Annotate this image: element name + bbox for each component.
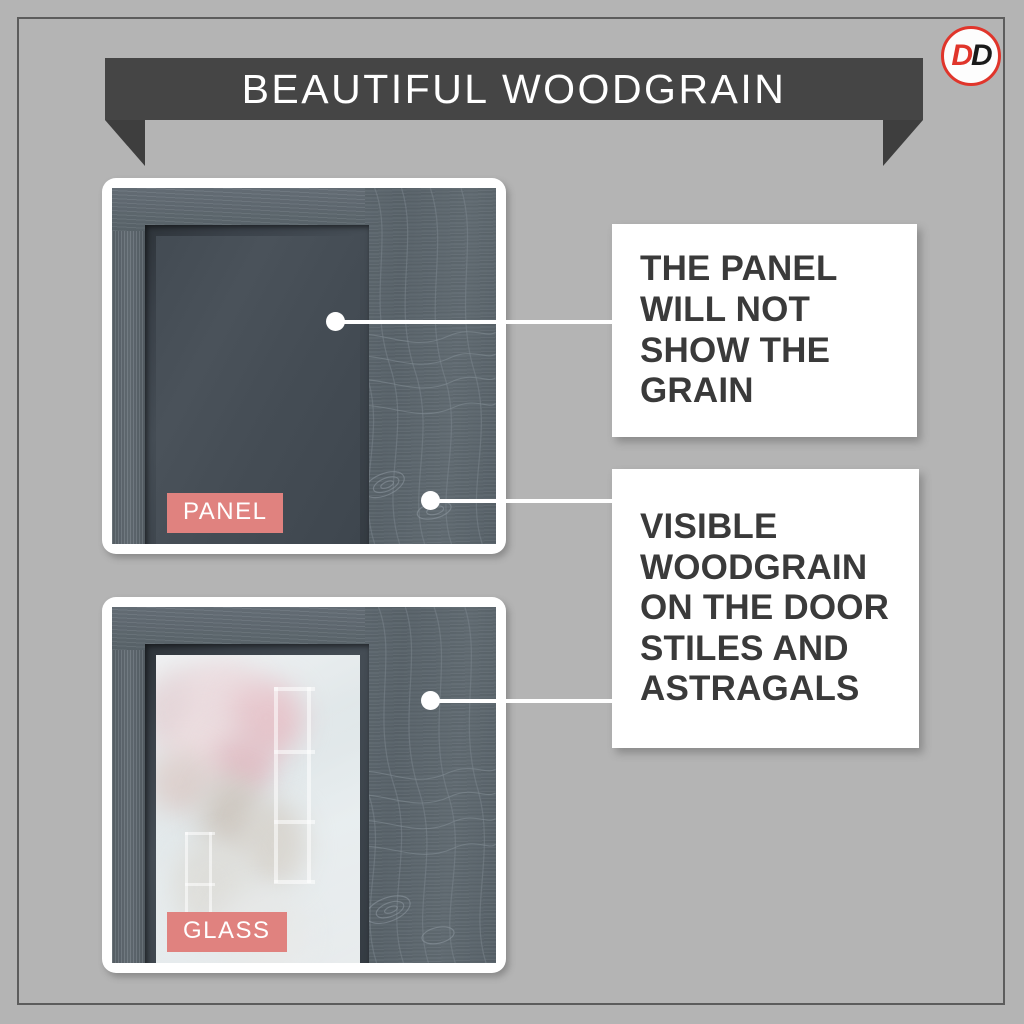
door-illustration-glass xyxy=(112,607,496,963)
connector-dot-panel xyxy=(326,312,345,331)
photo-card-glass: GLASS xyxy=(102,597,506,973)
door-top-rail xyxy=(112,607,365,650)
connector-dot-stile-lower xyxy=(421,691,440,710)
banner-tail-right xyxy=(883,120,923,166)
callout-panel-text: THE PANEL WILL NOT SHOW THE GRAIN xyxy=(640,249,917,411)
title-banner: BEAUTIFUL WOODGRAIN xyxy=(105,58,923,163)
callout-stiles-text: VISIBLE WOODGRAIN ON THE DOOR STILES AND… xyxy=(640,507,919,710)
photo-card-panel: PANEL xyxy=(102,178,506,554)
logo-letter-first: D xyxy=(951,41,971,71)
infographic-canvas: DD BEAUTIFUL WOODGRAIN xyxy=(0,0,1024,1024)
badge-panel: PANEL xyxy=(167,493,283,533)
connector-dot-stile-upper xyxy=(421,491,440,510)
badge-glass: GLASS xyxy=(167,912,287,952)
banner-bar: BEAUTIFUL WOODGRAIN xyxy=(105,58,923,120)
connector-line-panel xyxy=(335,320,620,324)
door-photo-glass: GLASS xyxy=(112,607,496,963)
logo-letter-second: D xyxy=(971,41,991,71)
connector-line-stile-lower xyxy=(430,699,620,703)
page-title: BEAUTIFUL WOODGRAIN xyxy=(242,66,787,113)
callout-panel: THE PANEL WILL NOT SHOW THE GRAIN xyxy=(612,224,917,437)
banner-tail-left xyxy=(105,120,145,166)
door-photo-panel: PANEL xyxy=(112,188,496,544)
brand-logo: DD xyxy=(941,26,1001,86)
door-top-rail xyxy=(112,188,365,231)
callout-stiles: VISIBLE WOODGRAIN ON THE DOOR STILES AND… xyxy=(612,469,919,748)
connector-line-stile-upper xyxy=(430,499,620,503)
door-illustration-panel xyxy=(112,188,496,544)
